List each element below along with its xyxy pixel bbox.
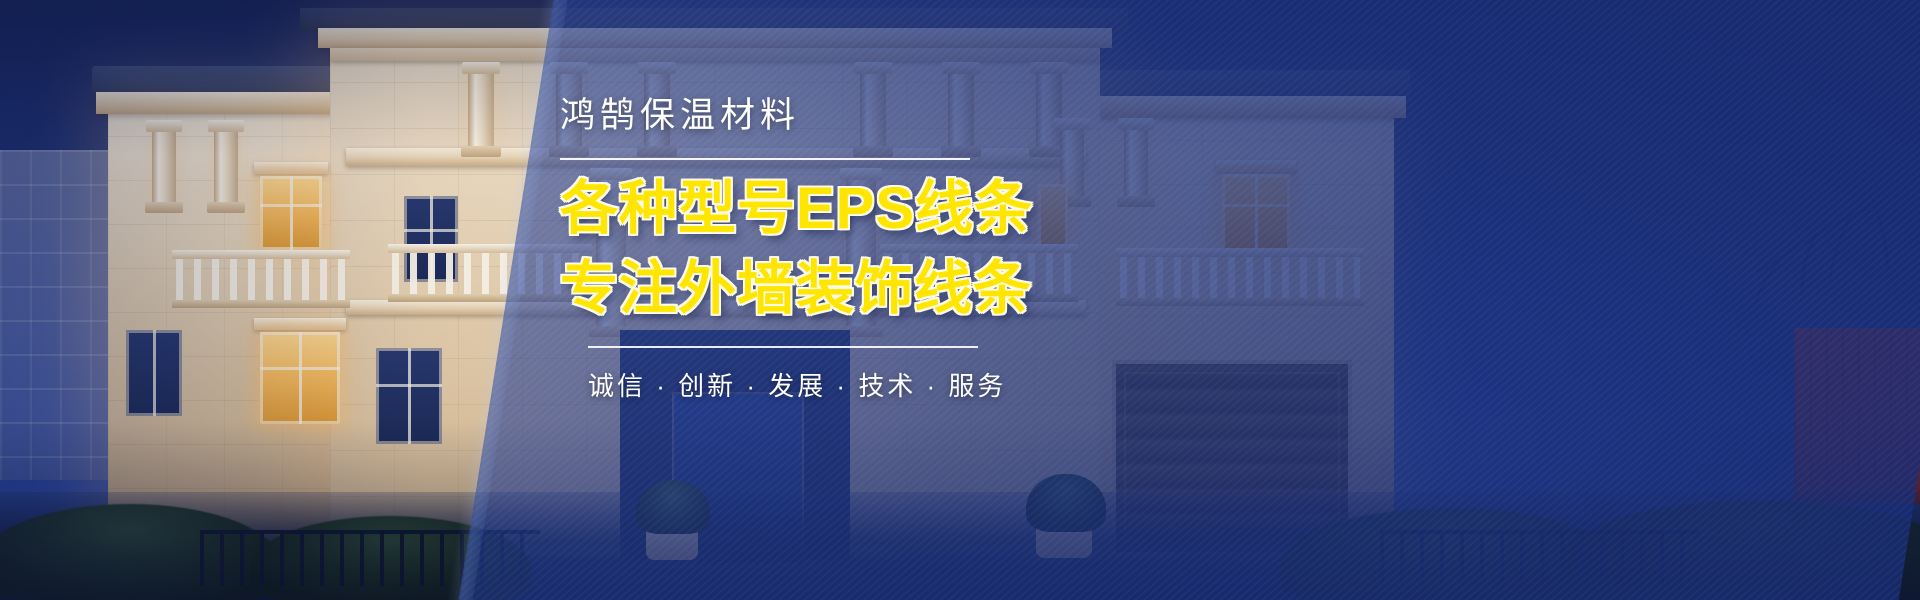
brand-eyebrow: 鸿鹄保温材料 bbox=[560, 96, 1030, 136]
headline-line-1: 各种型号EPS线条 bbox=[560, 178, 1030, 240]
divider-below-headline bbox=[588, 346, 978, 348]
hero-banner: 鸿鹄保温材料 各种型号EPS线条 专注外墙装饰线条 诚信 · 创新 · 发展 ·… bbox=[0, 0, 1920, 600]
banner-copy-block: 鸿鹄保温材料 各种型号EPS线条 专注外墙装饰线条 诚信 · 创新 · 发展 ·… bbox=[560, 96, 1030, 403]
brand-tagline: 诚信 · 创新 · 发展 · 技术 · 服务 bbox=[588, 366, 1030, 403]
headline-line-2: 专注外墙装饰线条 bbox=[560, 258, 1030, 320]
divider-above-headline bbox=[560, 158, 970, 160]
